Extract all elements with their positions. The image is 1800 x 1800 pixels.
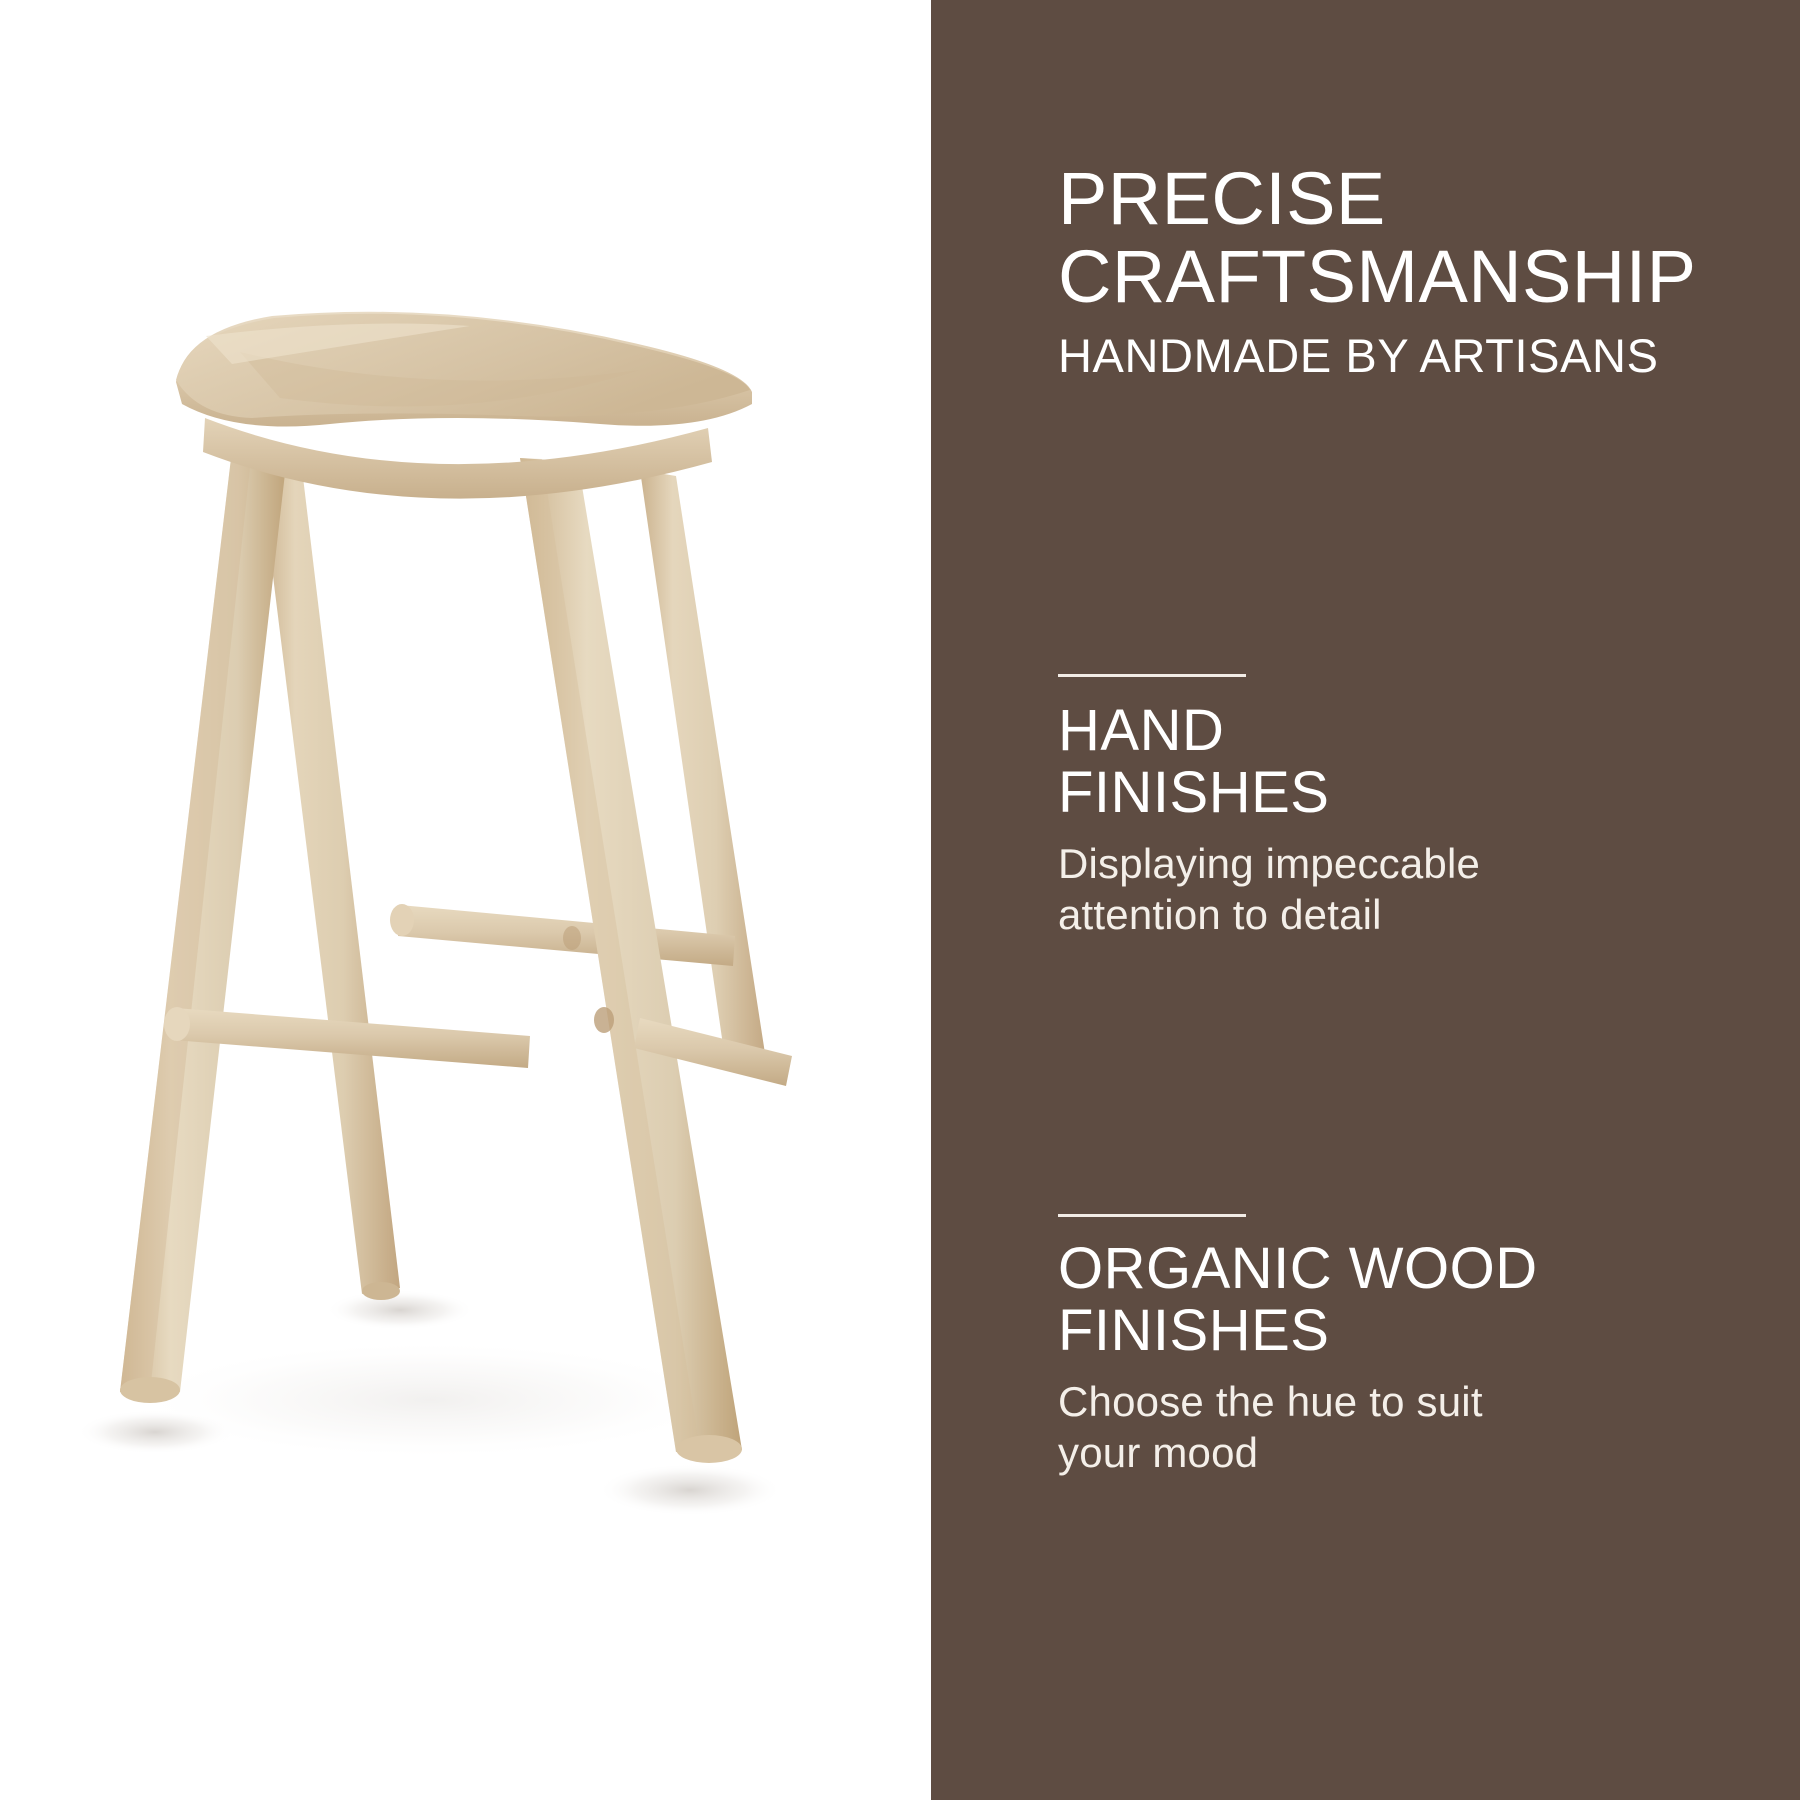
feature-body-2-line-2: your mood <box>1058 1427 1678 1478</box>
feature-body-1-line-1: Displaying impeccable <box>1058 838 1678 889</box>
info-panel: PRECISE CRAFTSMANSHIP HANDMADE BY ARTISA… <box>931 0 1800 1800</box>
feature-body-2: Choose the hue to suit your mood <box>1058 1376 1678 1478</box>
feature-block-organic-wood-finishes: ORGANIC WOOD FINISHES Choose the hue to … <box>1058 1238 1678 1479</box>
feature-block-hand-finishes: HAND FINISHES Displaying impeccable atte… <box>1058 700 1678 941</box>
feature-body-2-line-1: Choose the hue to suit <box>1058 1376 1678 1427</box>
feature-title-1-line-1: HAND <box>1058 700 1678 762</box>
product-image-pane <box>0 0 931 1800</box>
headline-line-2: CRAFTSMANSHIP <box>1058 238 1798 316</box>
headline-line-1: PRECISE <box>1058 160 1798 238</box>
feature-title-2-line-2: FINISHES <box>1058 1300 1678 1362</box>
section-divider-2 <box>1058 1214 1246 1217</box>
feature-title-2-line-1: ORGANIC WOOD <box>1058 1238 1678 1300</box>
page-title: PRECISE CRAFTSMANSHIP <box>1058 160 1798 317</box>
headline-subtitle: HANDMADE BY ARTISANS <box>1058 330 1798 382</box>
feature-body-1-line-2: attention to detail <box>1058 889 1678 940</box>
stool-product-photo <box>0 0 931 1800</box>
feature-body-1: Displaying impeccable attention to detai… <box>1058 838 1678 940</box>
feature-title-2: ORGANIC WOOD FINISHES <box>1058 1238 1678 1362</box>
section-divider-1 <box>1058 674 1246 677</box>
feature-title-1: HAND FINISHES <box>1058 700 1678 824</box>
product-marketing-banner: PRECISE CRAFTSMANSHIP HANDMADE BY ARTISA… <box>0 0 1800 1800</box>
feature-title-1-line-2: FINISHES <box>1058 762 1678 824</box>
